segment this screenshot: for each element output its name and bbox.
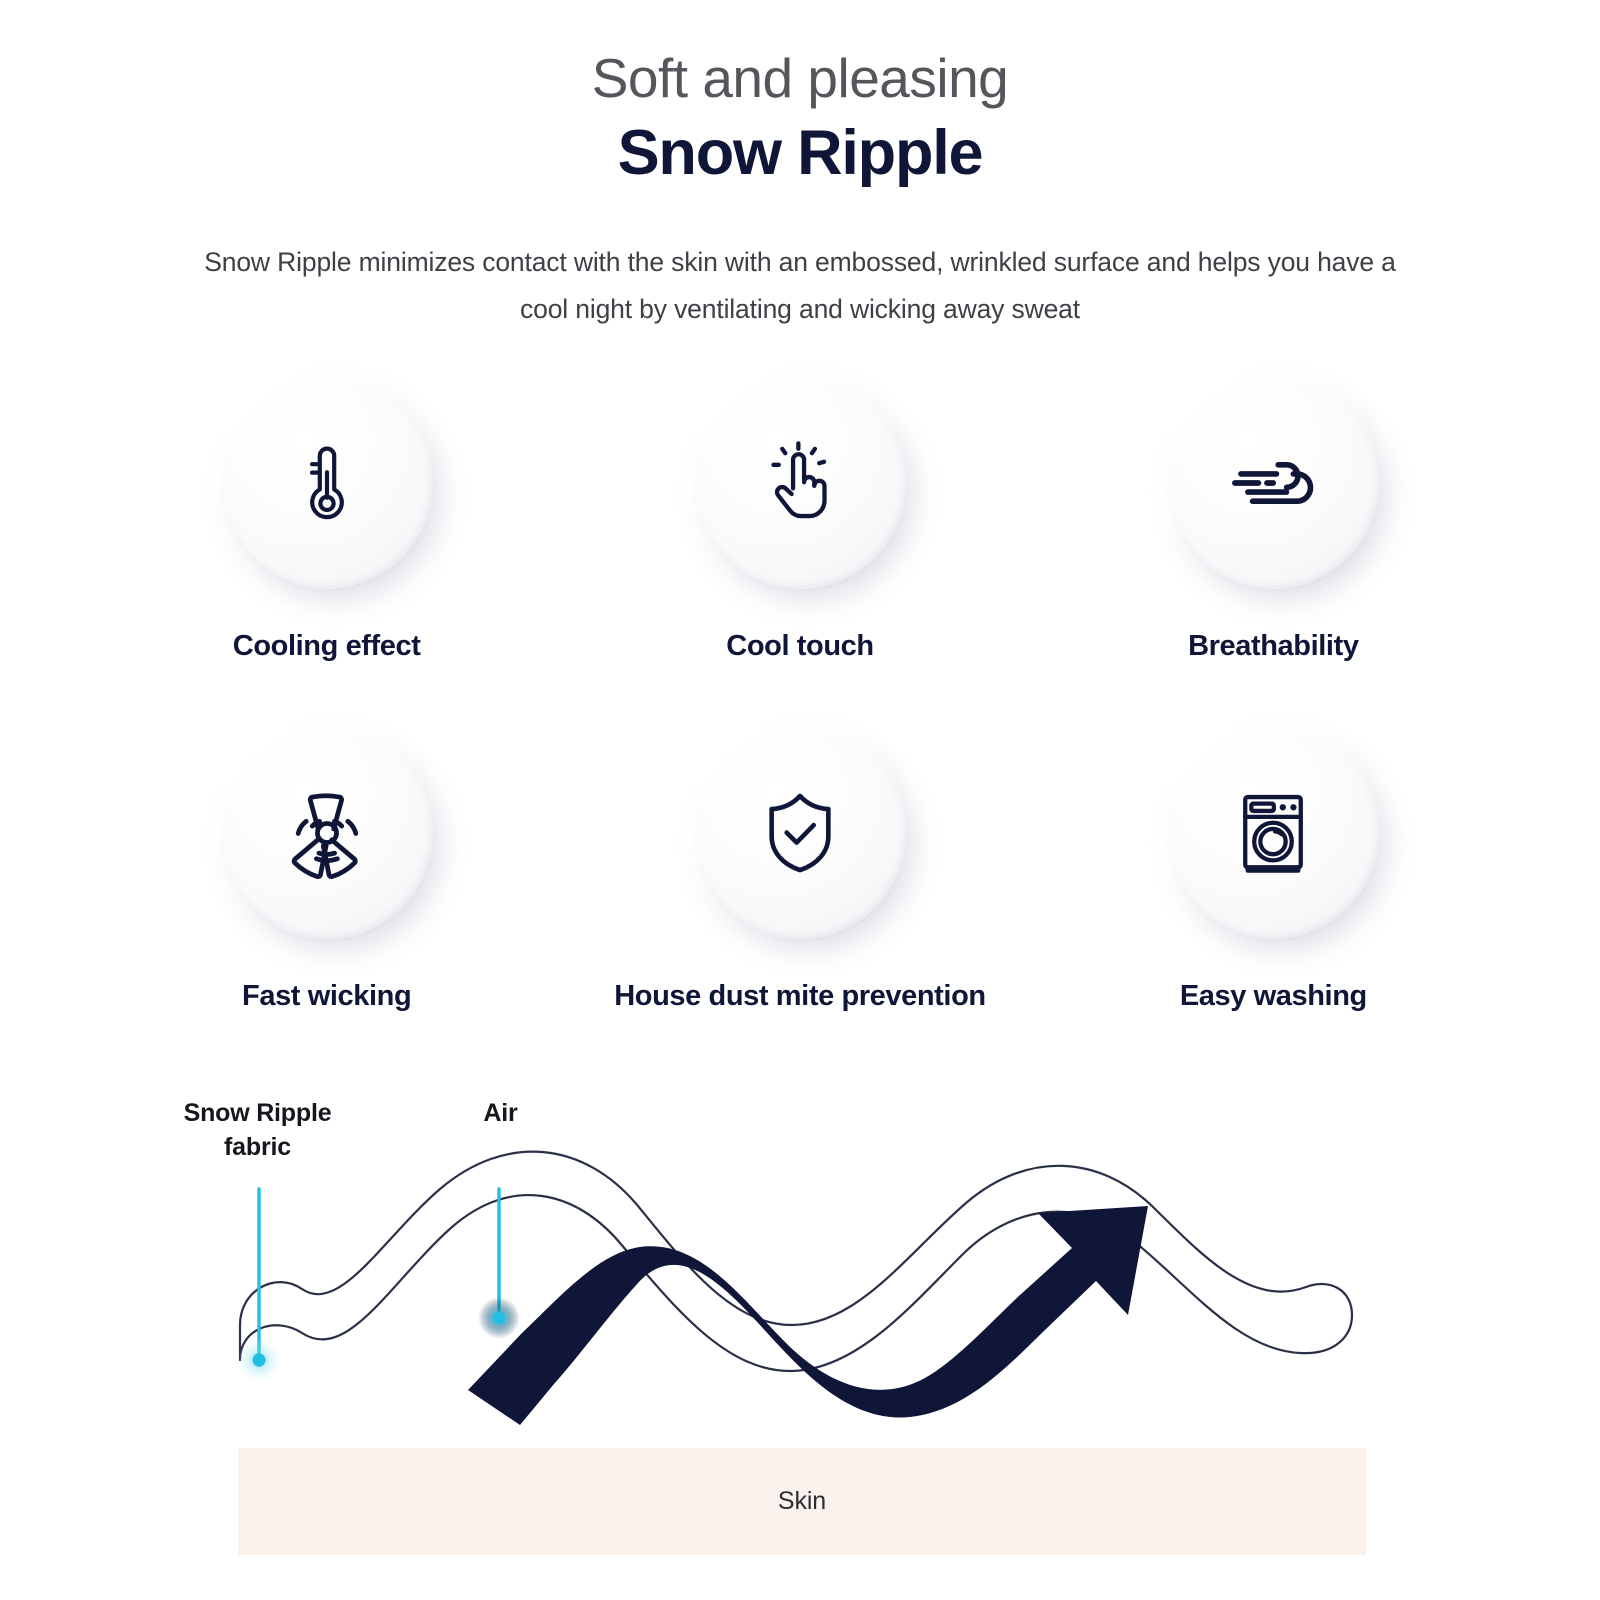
feature-label: House dust mite prevention xyxy=(614,980,986,1013)
page-description: Snow Ripple minimizes contact with the s… xyxy=(200,239,1400,333)
feature-icon-disc xyxy=(1167,377,1379,589)
airflow-arrow xyxy=(468,1206,1148,1425)
fan-propeller-icon xyxy=(275,781,379,885)
wind-icon xyxy=(1221,431,1325,535)
feature-card-dust-mite-prevention[interactable]: House dust mite prevention xyxy=(563,727,1036,1077)
page-header: Soft and pleasing Snow Ripple xyxy=(0,0,1600,192)
feature-label: Cooling effect xyxy=(233,630,421,663)
feature-label: Cool touch xyxy=(726,630,873,663)
page-title: Snow Ripple xyxy=(0,115,1600,192)
washing-machine-icon xyxy=(1224,784,1322,882)
fabric-diagram: Snow Ripple fabric Air Skin xyxy=(0,1075,1600,1600)
feature-card-cooling-effect[interactable]: Cooling effect xyxy=(90,377,563,727)
feature-card-fast-wicking[interactable]: Fast wicking xyxy=(90,727,563,1077)
callout-pointer-air xyxy=(478,1189,520,1339)
feature-card-cool-touch[interactable]: Cool touch xyxy=(563,377,1036,727)
feature-icon-disc xyxy=(221,377,433,589)
feature-card-easy-washing[interactable]: Easy washing xyxy=(1037,727,1510,1077)
feature-label: Breathability xyxy=(1188,630,1358,663)
feature-icon-disc xyxy=(1167,727,1379,939)
feature-label: Easy washing xyxy=(1180,980,1367,1013)
page-root: Soft and pleasing Snow Ripple Snow Rippl… xyxy=(0,0,1600,1600)
feature-card-breathability[interactable]: Breathability xyxy=(1037,377,1510,727)
feature-icon-disc xyxy=(694,377,906,589)
page-eyebrow: Soft and pleasing xyxy=(0,46,1600,111)
feature-label: Fast wicking xyxy=(242,980,411,1013)
feature-grid: Cooling effect Cool xyxy=(90,377,1510,1077)
skin-layer: Skin xyxy=(238,1448,1366,1555)
shield-check-icon xyxy=(750,783,850,883)
feature-icon-disc xyxy=(694,727,906,939)
callout-label-fabric: Snow Ripple fabric xyxy=(160,1096,355,1164)
tap-hand-icon xyxy=(751,434,849,532)
thermometer-icon xyxy=(279,435,375,531)
feature-icon-disc xyxy=(221,727,433,939)
callout-label-air: Air xyxy=(428,1096,573,1130)
fabric-ribbon-outline xyxy=(240,1152,1352,1371)
skin-label: Skin xyxy=(778,1487,826,1516)
